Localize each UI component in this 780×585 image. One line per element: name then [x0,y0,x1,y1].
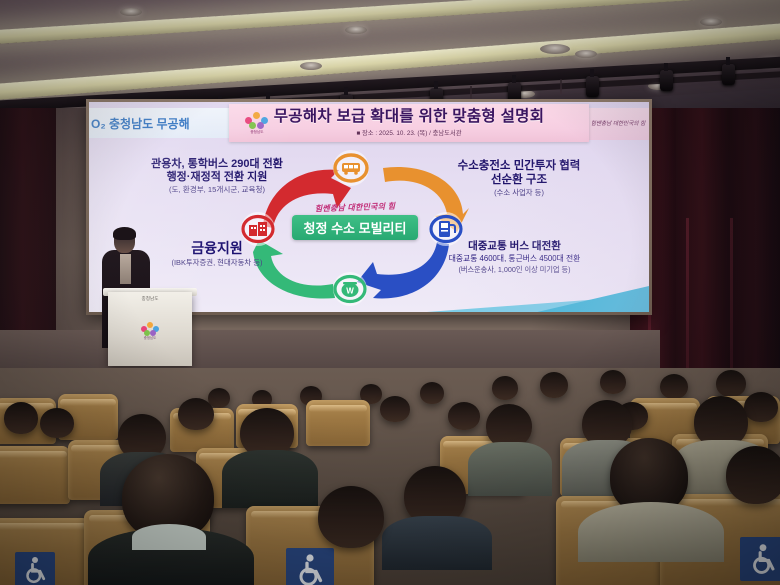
audience-head [744,392,778,422]
svg-text:W: W [346,287,354,296]
stage-lamp-icon [586,76,599,97]
audience-head [600,370,626,394]
quadrant-heading: 대중교통 버스 대전환 [407,240,622,252]
stage-lamp-icon [722,64,735,85]
audience-head [4,402,38,434]
audience-head [40,408,74,438]
quadrant-sub: (IBK투자증권, 현대자동차 등) [127,259,307,268]
downlight-icon [575,50,597,58]
ghost-banner-left: O₂ 충청남도 무공해 [89,108,237,138]
quadrant-sub: (버스운송사, 1,000인 이상 미기업 등) [407,266,622,274]
audience-seat[interactable] [0,518,90,585]
quadrant-heading: 수소충전소 민간투자 협력 [419,160,619,174]
ghost-banner-right: 힘쎈충남 대한민국의 힘 [583,108,649,140]
downlight-icon [345,26,367,34]
podium-name-plate: 충청남도 [108,296,192,302]
center-concept: 힘쎈충남 대한민국의 힘 청정 수소 모빌리티 [267,202,443,240]
quadrant-text-bottom-left: 금융지원 (IBK투자증권, 현대자동차 등) [127,240,307,267]
audience-head [492,376,518,400]
downlight-icon [300,62,322,70]
quadrant-text-top-right: 수소충전소 민간투자 협력 선순환 구조 (수소 사업자 등) [419,160,619,198]
quadrant-sub: (수소 사업자 등) [419,189,619,198]
stage-lamp-icon [660,70,673,91]
quadrant-text-bottom-right: 대중교통 버스 대전환 대중교통 4600대, 통근버스 4500대 전환 (버… [407,240,622,274]
podium: 충청남도 충청남도 [108,292,192,366]
ghost-banner-left-text: O₂ 충청남도 무공해 [91,115,190,132]
quadrant-heading-2: 행정·재정적 전환 지원 [107,171,327,184]
audience-head [380,396,410,422]
audience-head [660,374,688,399]
wheelchair-glyph [20,555,50,585]
audience-shoulders-foreground [578,502,724,562]
ghost-banner-right-text: 힘쎈충남 대한민국의 힘 [591,120,646,128]
audience-area [0,368,780,585]
chungnam-logo-label: 충청남도 [250,130,263,135]
downlight-icon [120,8,142,16]
audience-collar [132,524,206,550]
won-coin-icon: W [333,272,367,306]
center-script-text: 힘쎈충남 대한민국의 힘 [267,199,443,216]
wheelchair-accessible-icon [286,548,334,585]
audience-head [540,372,568,398]
wheelchair-glyph [746,542,780,576]
quadrant-heading: 금융지원 [127,240,307,257]
audience-head [716,370,746,397]
slide-subtitle: ■ 장소 : 2025. 10. 23. (목) / 충남도서관 [356,128,461,137]
quadrant-text-top-left: 관용차, 통학버스 290대 전환 행정·재정적 전환 지원 (도, 환경부, … [107,158,327,195]
audience-seat[interactable] [306,400,370,446]
quadrant-heading-2: 대중교통 4600대, 통근버스 4500대 전환 [407,254,622,263]
quadrant-heading-2: 선순환 구조 [419,174,619,188]
photo-scene: O₂ 충청남도 무공해 힘쎈충남 대한민국의 힘 무공해차 보급 확대를 위한 … [0,0,780,585]
presenter-shirt [120,254,131,284]
center-badge-label: 청정 수소 모빌리티 [292,215,419,240]
audience-shoulders [468,442,552,496]
audience-head [420,382,444,404]
chungnam-logo-icon: 충청남도 [241,108,273,138]
audience-head [726,446,780,504]
audience-seat[interactable] [0,446,70,504]
bus-icon [333,150,369,186]
audience-shoulders [222,450,318,508]
audience-head [448,402,480,430]
projection-screen: O₂ 충청남도 무공해 힘쎈충남 대한민국의 힘 무공해차 보급 확대를 위한 … [89,102,649,312]
slide-title-banner: 무공해차 보급 확대를 위한 맞춤형 설명회 ■ 장소 : 2025. 10. … [229,104,589,142]
slide-title: 무공해차 보급 확대를 위한 맞춤형 설명회 [274,109,545,125]
downlight-icon [700,18,722,26]
audience-shoulders [382,516,492,570]
wheelchair-accessible-icon [740,537,780,581]
wheelchair-accessible-icon [15,552,55,585]
downlight-icon [540,44,570,54]
lamp-cable [560,79,562,94]
projection-screen-frame: O₂ 충청남도 무공해 힘쎈충남 대한민국의 힘 무공해차 보급 확대를 위한 … [86,99,652,315]
quadrant-sub: (도, 환경부, 15개시군, 교육청) [107,186,327,195]
audience-head [318,486,384,548]
presenter-hair [113,227,136,240]
audience-head [178,398,214,430]
wheelchair-glyph [292,552,328,585]
slide-body: W 관용차, 통학버스 290대 전환 행정 [89,144,649,312]
quadrant-heading: 관용차, 통학버스 290대 전환 [107,158,327,171]
podium-logo-icon: 충청남도 [138,322,162,344]
